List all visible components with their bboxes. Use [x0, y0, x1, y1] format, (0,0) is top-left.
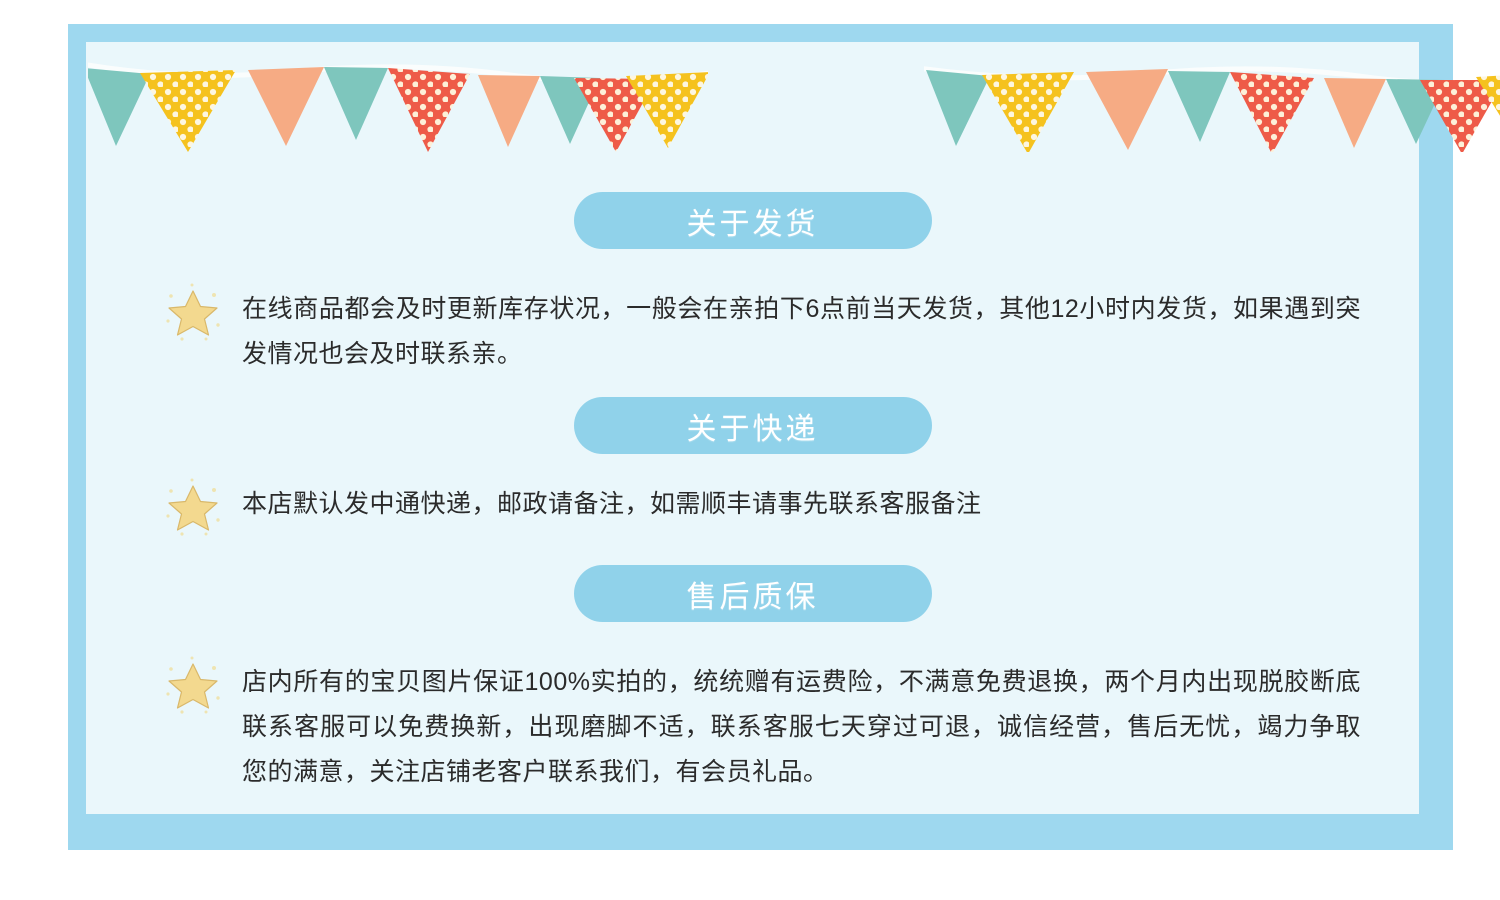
section-body-express: 本店默认发中通快递，邮政请备注，如需顺丰请事先联系客服备注: [86, 482, 1419, 538]
pill-warranty-label: 售后质保: [687, 572, 819, 616]
body-text-shipping: 在线商品都会及时更新库存状况，一般会在亲拍下6点前当天发货，其他12小时内发货，…: [242, 287, 1361, 377]
star-icon: [162, 281, 224, 343]
section-title-shipping: 关于发货: [86, 192, 1419, 249]
section-body-warranty: 店内所有的宝贝图片保证100%实拍的，统统赠有运费险，不满意免费退换，两个月内出…: [86, 660, 1419, 795]
section-title-warranty: 售后质保: [86, 565, 1419, 622]
pill-express: 关于快递: [574, 397, 932, 454]
star-icon: [162, 654, 224, 716]
info-card: 关于发货: [68, 24, 1453, 850]
pill-shipping: 关于发货: [574, 192, 932, 249]
pill-warranty: 售后质保: [574, 565, 932, 622]
star-icon: [162, 476, 224, 538]
pill-express-label: 关于快递: [687, 404, 819, 448]
bunting-right: [924, 42, 1500, 152]
pill-shipping-label: 关于发货: [687, 199, 819, 243]
card-panel: 关于发货: [86, 42, 1419, 814]
section-title-express: 关于快递: [86, 397, 1419, 454]
body-row: 本店默认发中通快递，邮政请备注，如需顺丰请事先联系客服备注: [86, 482, 1419, 538]
body-text-warranty: 店内所有的宝贝图片保证100%实拍的，统统赠有运费险，不满意免费退换，两个月内出…: [242, 660, 1361, 795]
body-row: 店内所有的宝贝图片保证100%实拍的，统统赠有运费险，不满意免费退换，两个月内出…: [86, 660, 1419, 795]
body-text-express: 本店默认发中通快递，邮政请备注，如需顺丰请事先联系客服备注: [242, 482, 1361, 527]
section-body-shipping: 在线商品都会及时更新库存状况，一般会在亲拍下6点前当天发货，其他12小时内发货，…: [86, 287, 1419, 377]
body-row: 在线商品都会及时更新库存状况，一般会在亲拍下6点前当天发货，其他12小时内发货，…: [86, 287, 1419, 377]
bunting-left: [88, 42, 708, 152]
